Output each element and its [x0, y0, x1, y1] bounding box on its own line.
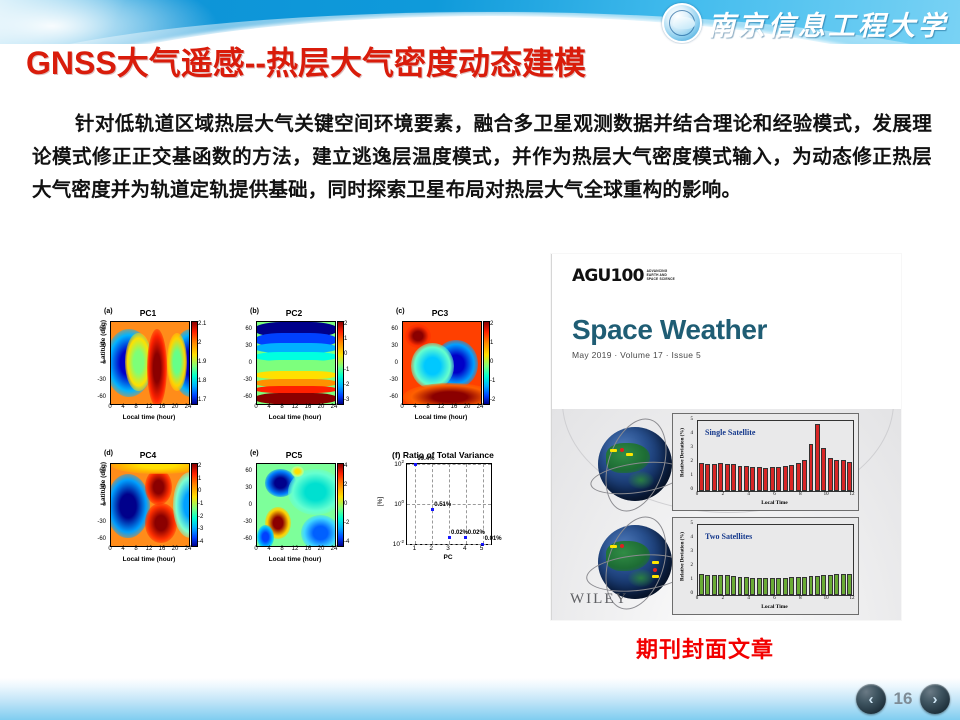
bar [809, 576, 814, 595]
colorbar-tick-label: 2 [198, 340, 201, 346]
bar [821, 575, 826, 595]
colorbar-tick-label: 0 [198, 488, 201, 494]
contour-blob [403, 383, 482, 405]
bar [718, 575, 723, 595]
bar [718, 463, 723, 491]
x-tick-label: 0 [105, 546, 115, 552]
satellite-dot-1 [620, 448, 624, 452]
chart-title: Two Satellites [705, 532, 752, 541]
bar [834, 574, 839, 595]
x-tick-label: 16 [303, 546, 313, 552]
slide: 南京信息工程大学 GNSS大气遥感--热层大气密度动态建模 针对低轨道区域热层大… [0, 0, 960, 720]
colorbar-tick-label: -1 [490, 378, 495, 384]
colorbar-tick-label: 2 [490, 321, 493, 327]
y-tick-label: 0 [382, 360, 398, 366]
bar [841, 460, 846, 491]
bar [763, 468, 768, 491]
colorbar-tick-label: 2 [344, 482, 347, 488]
contour-blob [110, 474, 150, 538]
x-tick-label: 12 [848, 596, 856, 601]
y-tick-label: -60 [382, 394, 398, 400]
y-tick-label: 2 [685, 459, 693, 464]
y-axis-label: Latitude (deg) [100, 462, 107, 505]
data-point-label: 0.01% [485, 536, 502, 542]
y-tick-label: 1 [685, 473, 693, 478]
x-axis-label: Local Time [697, 500, 852, 506]
chart-title: Single Satellite [705, 428, 755, 437]
colorbar-tick-label: 1 [490, 340, 493, 346]
x-tick-label: 0 [251, 404, 261, 410]
x-tick-label: 4 [264, 546, 274, 552]
variance-ratio-panel: (f) Ratio of Total Variance99.4%0.51%0.0… [380, 450, 508, 570]
y-axis-label: [%] [377, 497, 384, 506]
contour-band [256, 393, 336, 404]
bar [705, 464, 710, 491]
x-tick-label: 20 [316, 546, 326, 552]
bar [738, 577, 743, 595]
y-tick-label: -30 [90, 377, 106, 383]
figure-caption: 期刊封面文章 [636, 632, 774, 664]
satellite-marker-1 [610, 449, 617, 452]
bar [731, 464, 736, 491]
x-tick-label: 0 [251, 546, 261, 552]
scatter-point [464, 536, 467, 539]
x-tick-label: 4 [410, 404, 420, 410]
data-point-label: 0.02% [451, 530, 468, 536]
y-tick-label: -30 [90, 519, 106, 525]
colorbar-tick-label: -2 [490, 397, 495, 403]
y-tick-label: 0 [236, 360, 252, 366]
satellite-marker-4 [652, 561, 659, 564]
x-tick-label: 0 [693, 492, 701, 497]
contour-plot-area [402, 321, 482, 405]
y-tick-label: 30 [382, 343, 398, 349]
colorbar-tick-label: 2 [344, 321, 347, 327]
x-tick-label: 16 [157, 546, 167, 552]
colorbar-tick-label: -2 [198, 514, 203, 520]
data-point-label: 0.51% [434, 502, 451, 508]
y-tick-label: 10-2 [380, 539, 404, 548]
previous-slide-button[interactable]: ‹ [856, 684, 886, 714]
y-tick-label: 2 [685, 563, 693, 568]
x-axis-label: Local time (hour) [256, 556, 334, 563]
bar [757, 578, 762, 595]
y-tick-label: -60 [236, 536, 252, 542]
colorbar-tick-label: 0 [490, 359, 493, 365]
agu-logo-tagline: ADVANCING EARTH AND SPACE SCIENCE [647, 266, 675, 282]
colorbar-tick-label: 1.7 [198, 397, 206, 403]
x-tick-label: 4 [118, 546, 128, 552]
panel-title: (f) Ratio of Total Variance [392, 450, 494, 460]
bar [783, 578, 788, 595]
colorbar-tick-label: -2 [344, 382, 349, 388]
agu-tagline-line-3: SPACE SCIENCE [647, 277, 675, 281]
x-tick-label: 8 [131, 404, 141, 410]
bar [828, 575, 833, 595]
bar [725, 575, 730, 595]
bar [847, 462, 852, 491]
page-title: GNSS大气遥感--热层大气密度动态建模 [26, 40, 726, 86]
x-tick-label: 20 [316, 404, 326, 410]
pc-analysis-figure: (a)PC160300-30-6004812162024Local time (… [88, 300, 508, 590]
bar [770, 467, 775, 491]
panel-title: PC3 [380, 308, 500, 318]
x-axis-label: PC [406, 554, 490, 561]
colorbar-tick-label: -3 [198, 526, 203, 532]
colorbar-tick-label: -2 [344, 520, 349, 526]
university-name: 南京信息工程大学 [708, 4, 952, 43]
contour-blob [291, 466, 303, 477]
x-tick-label: 20 [170, 546, 180, 552]
contour-plot-area [110, 321, 190, 405]
colorbar [337, 463, 344, 547]
y-tick-label: 4 [685, 431, 693, 436]
colorbar-tick-label: 2.1 [198, 321, 206, 327]
colorbar [191, 463, 198, 547]
bar [802, 460, 807, 491]
x-tick-label: 12 [290, 404, 300, 410]
colorbar [483, 321, 490, 405]
single-satellite-chart: Single SatelliteRelative Deviation (%)Lo… [672, 413, 859, 511]
x-tick-label: 1 [409, 545, 419, 552]
y-tick-label: -60 [90, 536, 106, 542]
publisher-logo: WILEY [570, 591, 628, 608]
colorbar-tick-label: 1 [198, 476, 201, 482]
university-logo: 南京信息工程大学 [662, 2, 952, 44]
x-tick-label: 20 [462, 404, 472, 410]
contour-blob [257, 525, 274, 547]
y-tick-label: 60 [382, 326, 398, 332]
y-tick-label: -30 [382, 377, 398, 383]
colorbar-tick-label: 1 [344, 336, 347, 342]
page-number: 16 [892, 689, 914, 709]
panel-title: PC2 [234, 308, 354, 318]
panel-title: PC1 [88, 308, 208, 318]
journal-cover-image: AGU100 ADVANCING EARTH AND SPACE SCIENCE… [551, 254, 901, 620]
x-tick-label: 4 [264, 404, 274, 410]
y-tick-label: 5 [685, 417, 693, 422]
x-axis-label: Local time (hour) [256, 414, 334, 421]
slide-navigation: ‹ 16 › [856, 680, 950, 718]
bar [847, 574, 852, 595]
x-tick-label: 0 [693, 596, 701, 601]
x-tick-label: 0 [105, 404, 115, 410]
agu-logo: AGU100 ADVANCING EARTH AND SPACE SCIENCE [572, 266, 675, 286]
contour-blob [145, 503, 176, 542]
contour-blob [147, 329, 167, 405]
satellite-marker-2 [626, 453, 633, 456]
colorbar-tick-label: -1 [198, 501, 203, 507]
x-tick-label: 8 [277, 546, 287, 552]
x-axis-label: Local Time [697, 604, 852, 610]
bar [763, 578, 768, 595]
scatter-point [431, 508, 434, 511]
bar [731, 576, 736, 595]
satellite-marker-5 [652, 575, 659, 578]
colorbar [337, 321, 344, 405]
colorbar [191, 321, 198, 405]
pc-panel-grid: (a)PC160300-30-6004812162024Local time (… [88, 300, 508, 590]
x-tick-label: 10 [822, 492, 830, 497]
x-tick-label: 16 [303, 404, 313, 410]
x-tick-label: 6 [771, 596, 779, 601]
x-tick-label: 3 [443, 545, 453, 552]
colorbar-tick-label: 1.8 [198, 378, 206, 384]
y-tick-label: 60 [236, 326, 252, 332]
bar [744, 577, 749, 595]
colorbar-tick-label: 4 [344, 463, 347, 469]
bar [712, 575, 717, 595]
satellite-dot-2 [620, 544, 624, 548]
bar [705, 575, 710, 595]
x-tick-label: 5 [477, 545, 487, 552]
bar [809, 444, 814, 491]
scatter-point [448, 536, 451, 539]
body-paragraph: 针对低轨道区域热层大气关键空间环境要素，融合多卫星观测数据并结合理论和经验模式，… [32, 108, 932, 207]
x-tick-label: 4 [118, 404, 128, 410]
y-tick-label: 102 [380, 459, 404, 468]
bar [776, 578, 781, 595]
scatter-point [414, 463, 417, 466]
x-tick-label: 8 [277, 404, 287, 410]
y-tick-label: -60 [90, 394, 106, 400]
bar [738, 466, 743, 491]
x-axis-label: Local time (hour) [402, 414, 480, 421]
colorbar-tick-label: 0 [344, 501, 347, 507]
data-point-label: 0.02% [468, 530, 485, 536]
x-tick-label: 2 [719, 492, 727, 497]
cover-artwork: WILEY Single SatelliteRelative Deviation… [552, 409, 901, 620]
colorbar-tick-label: 1.9 [198, 359, 206, 365]
y-tick-label: 1 [685, 577, 693, 582]
bar [725, 464, 730, 491]
y-tick-label: 3 [685, 445, 693, 450]
journal-title: Space Weather [572, 314, 767, 346]
bar [841, 574, 846, 595]
data-point-label: 99.4% [417, 456, 434, 462]
x-tick-label: 12 [144, 404, 154, 410]
colorbar-tick-label: 0 [344, 351, 347, 357]
x-tick-label: 8 [423, 404, 433, 410]
colorbar-tick-label: 2 [198, 463, 201, 469]
x-tick-label: 8 [796, 596, 804, 601]
y-tick-label: 4 [685, 535, 693, 540]
contour-blob [111, 463, 190, 474]
x-tick-label: 8 [131, 546, 141, 552]
two-satellites-chart: Two SatellitesRelative Deviation (%)Loca… [672, 517, 859, 615]
y-tick-label: 30 [236, 485, 252, 491]
grid-line-horizontal [407, 464, 491, 465]
bar [750, 578, 755, 596]
bar [821, 448, 826, 491]
x-tick-label: 16 [449, 404, 459, 410]
bar [802, 577, 807, 595]
y-tick-label: -30 [236, 377, 252, 383]
x-axis-label: Local time (hour) [110, 414, 188, 421]
university-emblem-icon [662, 3, 702, 43]
x-tick-label: 12 [848, 492, 856, 497]
y-tick-label: -60 [236, 394, 252, 400]
bar [815, 576, 820, 595]
x-tick-label: 6 [771, 492, 779, 497]
y-tick-label: 5 [685, 521, 693, 526]
x-tick-label: 2 [426, 545, 436, 552]
agu-logo-word: AGU100 [572, 266, 644, 286]
x-tick-label: 12 [144, 546, 154, 552]
scatter-plot-area: 99.4%0.51%0.02%0.02%0.01% [406, 463, 492, 545]
next-slide-button[interactable]: › [920, 684, 950, 714]
x-tick-label: 8 [796, 492, 804, 497]
x-axis-label: Local time (hour) [110, 556, 188, 563]
bar [757, 467, 762, 491]
x-tick-label: 4 [745, 596, 753, 601]
colorbar-tick-label: -3 [344, 397, 349, 403]
x-tick-label: 12 [436, 404, 446, 410]
contour-plot-area [256, 321, 336, 405]
x-tick-label: 20 [170, 404, 180, 410]
bar [750, 467, 755, 491]
colorbar-tick-label: -4 [344, 539, 349, 545]
journal-issue-info: May 2019 · Volume 17 · Issue 5 [572, 350, 701, 360]
header-banner: 南京信息工程大学 [0, 0, 960, 44]
bar [789, 577, 794, 595]
x-tick-label: 4 [460, 545, 470, 552]
bar [834, 460, 839, 491]
x-tick-label: 2 [719, 596, 727, 601]
x-tick-label: 12 [290, 546, 300, 552]
footer-bar: ‹ 16 › [0, 678, 960, 720]
bar [699, 463, 704, 491]
x-tick-label: 0 [397, 404, 407, 410]
bar [789, 465, 794, 491]
x-tick-label: 4 [745, 492, 753, 497]
bar [744, 466, 749, 491]
bar [796, 577, 801, 595]
bar [796, 463, 801, 491]
y-tick-label: 3 [685, 549, 693, 554]
satellite-dot-3 [653, 568, 657, 572]
colorbar-tick-label: -4 [198, 539, 203, 545]
x-tick-label: 10 [822, 596, 830, 601]
colorbar-tick-label: -1 [344, 367, 349, 373]
y-tick-label: -30 [236, 519, 252, 525]
panel-title: PC5 [234, 450, 354, 460]
x-tick-label: 16 [157, 404, 167, 410]
y-tick-label: 0 [685, 591, 693, 596]
bar [815, 424, 820, 491]
satellite-marker-3 [610, 545, 617, 548]
contour-blob [145, 469, 172, 505]
bar [828, 458, 833, 491]
bar [699, 574, 704, 595]
bar [712, 464, 717, 491]
y-tick-label: 0 [236, 502, 252, 508]
panel-title: PC4 [88, 450, 208, 460]
contour-plot-area [110, 463, 190, 547]
contour-plot-area [256, 463, 336, 547]
y-tick-label: 60 [236, 468, 252, 474]
y-tick-label: 0 [685, 487, 693, 492]
bar [770, 578, 775, 595]
y-tick-label: 30 [236, 343, 252, 349]
contour-blob [301, 515, 336, 547]
bar [776, 467, 781, 491]
bar [783, 466, 788, 491]
y-axis-label: Latitude (deg) [100, 320, 107, 363]
